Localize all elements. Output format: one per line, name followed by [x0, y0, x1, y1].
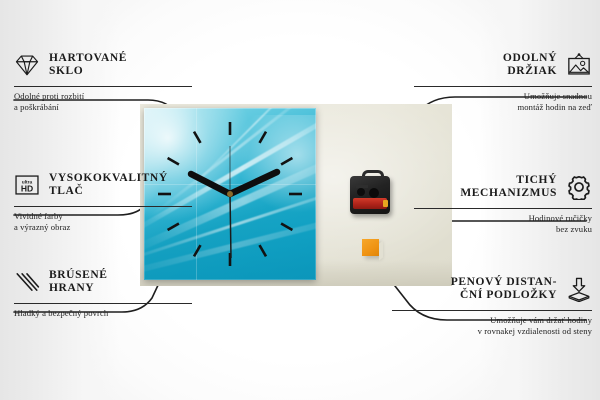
feature-title: TICHÝ MECHANIZMUS: [460, 174, 557, 201]
feature-high-quality-print: ultra HD VYSOKOKVALITNÝ TLAČ Vividné far…: [14, 168, 192, 233]
feature-description: Umožňuje snadnou montáž hodin na zeď: [414, 91, 592, 113]
clock-tick: [281, 224, 292, 231]
clock-tick: [168, 158, 179, 165]
divider: [414, 208, 592, 209]
clock-tick: [281, 158, 292, 165]
clock-tick: [260, 132, 267, 143]
feature-header: HARTOVANÉ SKLO: [14, 48, 192, 82]
mechanism-battery: [353, 198, 387, 209]
clock-second-hand: [230, 194, 231, 258]
clock-center-cap: [227, 191, 233, 197]
feature-foam-spacers: PENOVÝ DISTAN- ČNÍ PODLOŽKY Umožňuje vám…: [392, 272, 592, 337]
foam-pad-side: [379, 240, 383, 260]
picture-frame-icon: [566, 52, 592, 78]
feature-header: PENOVÝ DISTAN- ČNÍ PODLOŽKY: [392, 272, 592, 306]
feature-title: BRÚSENÉ HRANY: [49, 269, 108, 296]
divider: [14, 86, 192, 87]
feature-description: Hodinové ručičky bez zvuku: [414, 213, 592, 235]
clock-tick: [260, 245, 267, 256]
feature-description: Umožňuje vám držať hodiny v rovnakej vzd…: [392, 315, 592, 337]
feature-title: VYSOKOKVALITNÝ TLAČ: [49, 172, 168, 199]
feature-durable-hanger: ODOLNÝ DRŽIAK Umožňuje snadnou montáž ho…: [414, 48, 592, 113]
svg-text:HD: HD: [21, 184, 33, 194]
feature-header: BRÚSENÉ HRANY: [14, 265, 192, 299]
foam-spacer-icon: [566, 276, 592, 302]
clock-minute-hand: [230, 172, 277, 194]
clock-tick: [194, 132, 201, 143]
feature-description: Odolné proti rozbití a poškrábání: [14, 91, 192, 113]
divider: [414, 86, 592, 87]
feature-hardened-glass: HARTOVANÉ SKLO Odolné proti rozbití a po…: [14, 48, 192, 113]
feature-silent-mechanism: TICHÝ MECHANIZMUS Hodinové ručičky bez z…: [414, 170, 592, 235]
ultra-hd-icon: ultra HD: [14, 172, 40, 198]
gear-icon: [566, 174, 592, 200]
feature-beveled-edges: BRÚSENÉ HRANY Hladký a bezpečný povrch: [14, 265, 192, 319]
feature-title: ODOLNÝ DRŽIAK: [503, 52, 557, 79]
divider: [14, 206, 192, 207]
clock-tick: [194, 245, 201, 256]
clock-mechanism: [348, 170, 392, 216]
mechanism-detail: [357, 188, 365, 196]
feature-header: ultra HD VYSOKOKVALITNÝ TLAČ: [14, 168, 192, 202]
diamond-icon: [14, 52, 40, 78]
foam-spacer-pad: [362, 239, 379, 256]
promo-infographic: HARTOVANÉ SKLO Odolné proti rozbití a po…: [0, 0, 600, 400]
feature-title: PENOVÝ DISTAN- ČNÍ PODLOŽKY: [451, 276, 557, 303]
feature-description: Vividné farby a výrazný obraz: [14, 211, 192, 233]
beveled-edges-icon: [14, 269, 40, 295]
mechanism-detail: [369, 188, 379, 198]
feature-header: TICHÝ MECHANIZMUS: [414, 170, 592, 204]
divider: [392, 310, 592, 311]
feature-description: Hladký a bezpečný povrch: [14, 308, 192, 319]
feature-header: ODOLNÝ DRŽIAK: [414, 48, 592, 82]
clock-hour-hand: [191, 174, 230, 194]
battery-terminal: [383, 200, 388, 207]
feature-title: HARTOVANÉ SKLO: [49, 52, 127, 79]
divider: [14, 303, 192, 304]
